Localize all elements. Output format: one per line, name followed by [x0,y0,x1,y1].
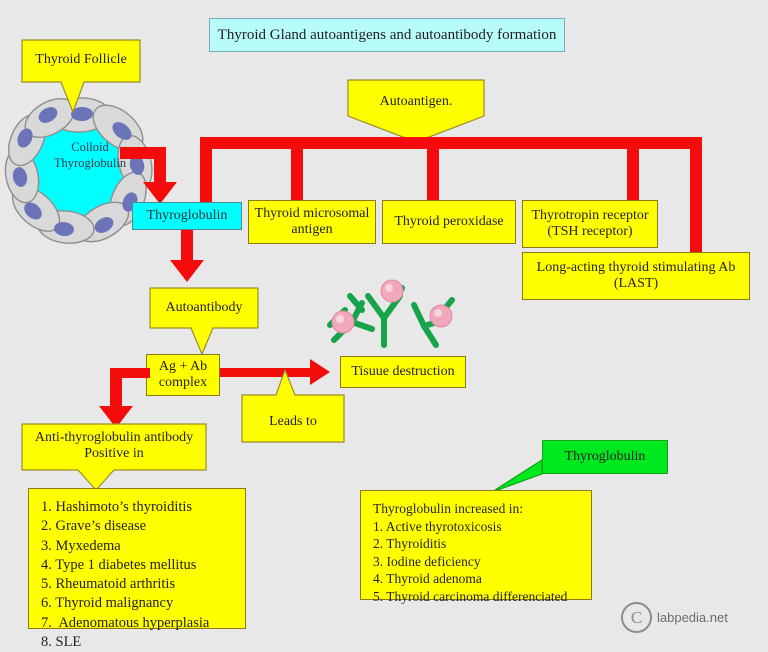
antigen-drop-tsh-receptor [627,137,639,201]
anti-thyroglobulin-list-box: 1. Hashimoto’s thyroiditis 2. Grave’s di… [28,488,246,629]
ag-ab-line2: complex [159,375,207,391]
anti-tg-arrow-vertical [110,368,122,410]
autoantibody-callout: Autoantibody [150,288,258,354]
copyright-icon: C [621,602,652,633]
antigen-drop-peroxidase [427,137,439,201]
tissue-arrow-head [310,359,330,385]
thyroid-follicle-callout: Thyroid Follicle [22,40,140,112]
list-item: 5. Thyroid carcinoma differenciated [373,588,581,606]
watermark: C labpedia.net [621,602,728,633]
follicle-arrow-head [143,182,177,204]
tissue-arrow-shaft [220,368,318,377]
antigen-drop-thyroglobulin [200,137,212,203]
list-item: 1. Hashimoto’s thyroiditis [41,498,235,517]
autoantigen-label: Autoantigen. [348,94,484,110]
thyroglobulin-tag: Thyroglobulin [542,440,668,474]
leads-to-label: Leads to [242,414,344,430]
follicle-arrow-vertical [154,147,166,184]
autoantibody-label: Autoantibody [150,300,258,316]
list-item: 7. Adenomatous hyperplasia [41,614,235,633]
thyroid-follicle-callout-label: Thyroid Follicle [22,52,140,68]
anti-thyroglobulin-header-text: Anti-thyroglobulin antibody Positive in [22,430,206,462]
antigen-box-thyroglobulin: Thyroglobulin [132,202,242,230]
ag-ab-complex-box: Ag + Ab complex [146,354,220,396]
microsomal-line2: antigen [291,222,332,238]
list-item: 3. Myxedema [41,537,235,556]
list-item: 3. Iodine deficiency [373,553,581,571]
antigen-box-microsomal-antigen: Thyroid microsomal antigen [248,200,376,244]
list-item: 2. Grave’s disease [41,517,235,536]
last-line2: (LAST) [614,276,658,292]
anti-tg-header-line1: Anti-thyroglobulin antibody [22,430,206,446]
antigen-box-last: Long-acting thyroid stimulating Ab (LAST… [522,252,750,300]
ag-ab-line1: Ag + Ab [159,359,207,375]
antigen-drop-last [690,137,702,253]
list-item: 5. Rheumatoid arthritis [41,575,235,594]
anti-tg-header-line2: Positive in [22,446,206,462]
list-item: 4. Thyroid adenoma [373,570,581,588]
antigen-particles [332,280,452,333]
list-item: 4. Type 1 diabetes mellitus [41,556,235,575]
thyroglobulin-increased-list-box: Thyroglobulin increased in: 1. Active th… [360,490,592,600]
anti-thyroglobulin-header-callout: Anti-thyroglobulin antibody Positive in [22,424,206,490]
antigen-box-thyroid-peroxidase: Thyroid peroxidase [382,200,516,244]
antigen-drop-microsomal [291,137,303,201]
autoantibody-arrow-shaft [181,230,193,262]
list-item: 6. Thyroid malignancy [41,594,235,613]
list-item: 8. SLE [41,633,235,652]
diagram-title: Thyroid Gland autoantigens and autoantib… [209,18,565,52]
autoantigen-callout: Autoantigen. [348,80,484,142]
microsomal-line1: Thyroid microsomal [255,206,370,222]
last-line1: Long-acting thyroid stimulating Ab [537,260,736,276]
tissue-destruction-box: Tisuue destruction [340,356,466,388]
thyroglobulin-list-header: Thyroglobulin increased in: [373,500,581,518]
autoantibody-arrow-head [170,260,204,282]
list-item: 1. Active thyrotoxicosis [373,518,581,536]
diagram-canvas: Thyroid Gland autoantigens and autoantib… [0,0,768,641]
tsh-line2: (TSH receptor) [547,224,632,240]
tsh-line1: Thyrotropin receptor [531,208,648,224]
antigen-box-tsh-receptor: Thyrotropin receptor (TSH receptor) [522,200,658,248]
watermark-text: labpedia.net [657,610,728,625]
list-item: 2. Thyroiditis [373,535,581,553]
